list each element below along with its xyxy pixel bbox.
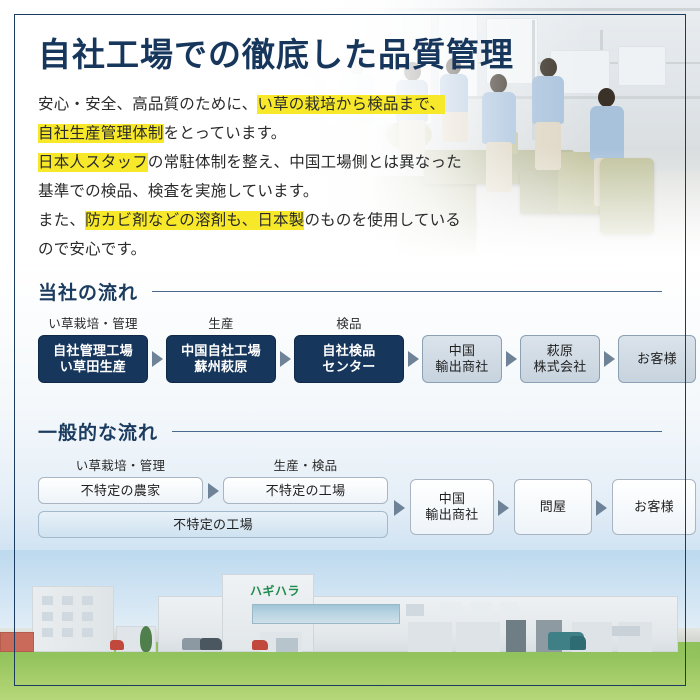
own-label-1: 生産 bbox=[166, 313, 276, 332]
page-title: 自社工場での徹底した品質管理 bbox=[38, 38, 514, 71]
flow-arrow bbox=[408, 351, 419, 367]
general-box-customer: お客様 bbox=[612, 479, 696, 535]
flow-arrow bbox=[498, 500, 509, 516]
section-general-header: 一般的な流れ bbox=[38, 418, 662, 445]
section-rule bbox=[172, 431, 662, 433]
factory-exterior-photo: ハギハラ bbox=[0, 550, 700, 700]
flow-arrow bbox=[280, 351, 291, 367]
section-general-flow: 一般的な流れ い草栽培・管理 生産・検品 不特定の農家 不特定の工場 不特定の工… bbox=[38, 418, 662, 547]
general-flow-labels: い草栽培・管理 生産・検品 bbox=[38, 455, 662, 475]
flow-arrow bbox=[596, 500, 607, 516]
section-own-title: 当社の流れ bbox=[38, 278, 138, 305]
general-flow-rows: 不特定の農家 不特定の工場 不特定の工場 中国輸出商社 問屋 お客様 bbox=[38, 477, 662, 547]
general-box-farm: 不特定の農家 bbox=[38, 477, 203, 504]
body-copy: 安心・安全、高品質のために、い草の栽培から検品まで、自社生産管理体制をとっていま… bbox=[38, 90, 508, 264]
flow-arrow bbox=[152, 351, 163, 367]
flow-arrow bbox=[506, 351, 517, 367]
own-box-0: 自社管理工場い草田生産 bbox=[38, 335, 148, 383]
own-box-3: 中国輸出商社 bbox=[422, 335, 502, 383]
body-line: ので安心です。 bbox=[38, 235, 508, 264]
body-line: 日本人スタッフの常駐体制を整え、中国工場側とは異なった bbox=[38, 148, 508, 177]
flow-arrow bbox=[604, 351, 615, 367]
flow-arrow bbox=[394, 500, 405, 516]
general-box-wholesaler: 問屋 bbox=[514, 479, 592, 535]
own-flow-labels: い草栽培・管理 生産 検品 bbox=[38, 313, 662, 333]
own-box-1: 中国自社工場蘇州萩原 bbox=[166, 335, 276, 383]
general-box-export: 中国輸出商社 bbox=[410, 479, 494, 535]
general-label-0: い草栽培・管理 bbox=[38, 455, 203, 474]
body-line: 自社生産管理体制をとっています。 bbox=[38, 119, 508, 148]
own-label-0: い草栽培・管理 bbox=[38, 313, 148, 332]
flow-arrow bbox=[208, 483, 219, 499]
section-rule bbox=[152, 291, 662, 293]
section-own-header: 当社の流れ bbox=[38, 278, 662, 305]
section-general-title: 一般的な流れ bbox=[38, 418, 158, 445]
body-line: 安心・安全、高品質のために、い草の栽培から検品まで、 bbox=[38, 90, 508, 119]
own-flow-row: 自社管理工場い草田生産 中国自社工場蘇州萩原 自社検品センター 中国輸出商社 萩… bbox=[38, 335, 662, 387]
body-line: また、防カビ剤などの溶剤も、日本製のものを使用している bbox=[38, 206, 508, 235]
body-line: 基準での検品、検査を実施しています。 bbox=[38, 177, 508, 206]
own-box-5: お客様 bbox=[618, 335, 696, 383]
section-own-flow: 当社の流れ い草栽培・管理 生産 検品 自社管理工場い草田生産 中国自社工場蘇州… bbox=[38, 278, 662, 387]
own-box-4: 萩原株式会社 bbox=[520, 335, 600, 383]
own-label-2: 検品 bbox=[294, 313, 404, 332]
company-sign: ハギハラ bbox=[250, 582, 300, 599]
poster: 自社工場での徹底した品質管理 安心・安全、高品質のために、い草の栽培から検品まで… bbox=[0, 0, 700, 700]
general-label-1: 生産・検品 bbox=[223, 455, 388, 474]
own-box-2: 自社検品センター bbox=[294, 335, 404, 383]
general-box-factory-2: 不特定の工場 bbox=[38, 511, 388, 538]
glass-facade bbox=[252, 604, 400, 624]
general-box-factory-1: 不特定の工場 bbox=[223, 477, 388, 504]
